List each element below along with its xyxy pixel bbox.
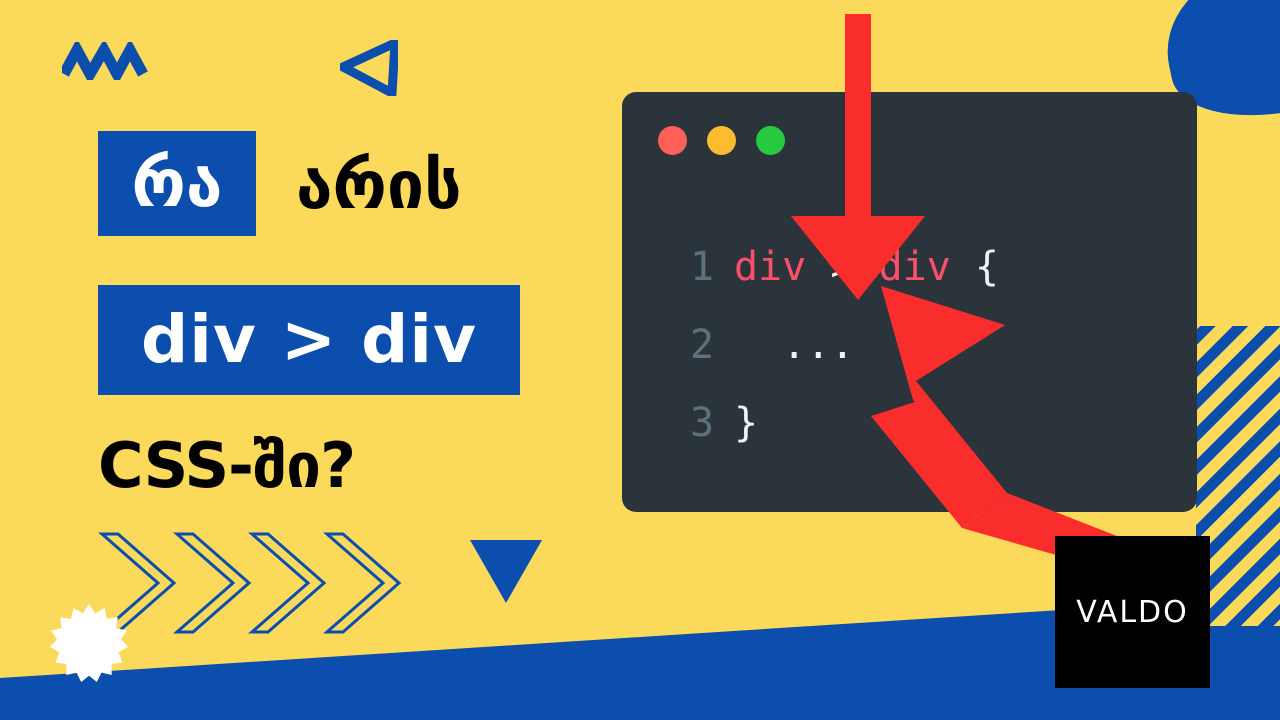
logo-text: VALDO: [1076, 595, 1189, 630]
headline-chip-selector: div > div: [98, 285, 520, 395]
headline-chip-what: რა: [98, 131, 256, 236]
code-token: }: [734, 384, 758, 462]
triangle-outline-icon: [340, 40, 398, 96]
headline-word-is: არის: [296, 153, 462, 219]
valdo-logo: VALDO: [1055, 536, 1210, 688]
minimize-icon[interactable]: [707, 126, 736, 155]
close-icon[interactable]: [658, 126, 687, 155]
code-token-combinator: >: [830, 228, 854, 306]
code-line: 2 ...: [690, 306, 999, 384]
code-line: 1div > div {: [690, 228, 999, 306]
code-token: [854, 228, 878, 306]
code-line: 3}: [690, 384, 999, 462]
code-token: {: [975, 228, 999, 306]
headline-line-2: div > div: [98, 285, 520, 395]
window-traffic-lights: [658, 126, 785, 155]
thumbnail-canvas: რა არის div > div CSS-ში? 1div > div { 2…: [0, 0, 1280, 720]
zigzag-icon: [62, 42, 154, 80]
chevron-row-icon: [96, 528, 406, 638]
headline-line-3: CSS-ში?: [98, 435, 355, 497]
code-token: div: [734, 228, 806, 306]
triangle-down-icon: [470, 540, 542, 603]
headline-line-1: რა არის: [98, 131, 462, 236]
starburst-icon: [50, 604, 128, 682]
code-editor-window: 1div > div { 2 ... 3}: [622, 92, 1197, 512]
code-token: [806, 228, 830, 306]
line-number: 3: [690, 384, 734, 462]
code-token-ellipsis: ...: [734, 306, 854, 384]
line-number: 1: [690, 228, 734, 306]
line-number: 2: [690, 306, 734, 384]
headline-word-css: CSS-ში?: [98, 435, 355, 497]
code-token: div: [879, 228, 951, 306]
code-token: [951, 228, 975, 306]
code-block: 1div > div { 2 ... 3}: [690, 228, 999, 462]
maximize-icon[interactable]: [756, 126, 785, 155]
